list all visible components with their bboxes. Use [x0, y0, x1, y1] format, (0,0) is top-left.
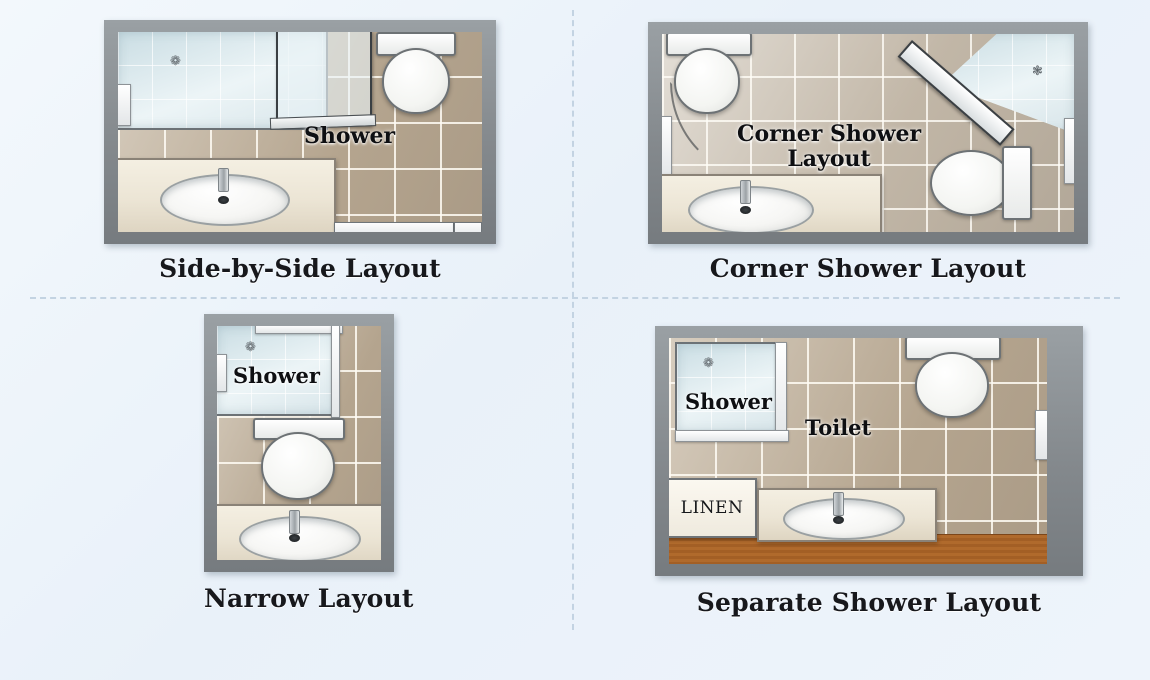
toilet-right [930, 146, 1054, 218]
layout-card-corner-shower[interactable]: ❃ C [648, 22, 1088, 292]
shower-enclosure: ❁ [675, 342, 783, 434]
door-opening [334, 222, 454, 232]
sink-drain [218, 196, 229, 204]
faucet [218, 168, 229, 192]
room-interior: ❃ C [662, 34, 1074, 232]
room-interior: ❁ LINEN [669, 338, 1047, 564]
window [1064, 118, 1074, 184]
caption-separate-shower: Separate Shower Layout [655, 588, 1083, 617]
caption-corner-shower: Corner Shower Layout [648, 254, 1088, 283]
vanity-counter [757, 488, 937, 542]
shower-door-edge [331, 326, 340, 418]
sink-drain [833, 516, 844, 524]
faucet [740, 180, 751, 204]
floorplan-separate-shower: ❁ LINEN [655, 326, 1083, 576]
sink-drain [740, 206, 751, 214]
layout-card-side-by-side[interactable]: ❁ Sho [104, 20, 496, 290]
sink-basin [239, 516, 361, 560]
room-interior: ❁ Shower [217, 326, 381, 560]
layout-card-separate-shower[interactable]: ❁ LINEN [655, 326, 1083, 626]
sink-basin [783, 498, 905, 540]
toilet [368, 32, 460, 118]
faucet [833, 492, 844, 516]
sink-drain [289, 534, 300, 542]
caption-side-by-side: Side-by-Side Layout [104, 254, 496, 283]
door-jamb [454, 222, 482, 232]
shower-label: Shower [304, 124, 395, 149]
linen-cabinet: LINEN [669, 478, 757, 538]
corner-shower-label: Corner Shower Layout [724, 122, 934, 171]
floorplan-board: ❁ Sho [0, 0, 1150, 680]
horizontal-divider [30, 297, 1120, 299]
toilet [905, 338, 1005, 420]
floorplan-corner-shower: ❃ C [648, 22, 1088, 244]
vertical-divider [572, 10, 574, 630]
layout-card-narrow[interactable]: ❁ Shower Narrow Layout [204, 314, 394, 614]
toilet-bowl [261, 432, 335, 500]
showerhead-icon: ❁ [170, 54, 181, 67]
window [1035, 410, 1047, 460]
shower-ledge [217, 354, 227, 392]
vanity-counter [118, 158, 336, 232]
shower-label: Shower [233, 364, 320, 388]
shower-threshold [675, 430, 789, 442]
toilet-bowl [930, 150, 1012, 216]
floorplan-narrow: ❁ Shower [204, 314, 394, 572]
door-opening [662, 116, 672, 180]
floorplan-side-by-side: ❁ Sho [104, 20, 496, 244]
showerhead-icon: ❁ [703, 356, 714, 369]
shower-glass-door [276, 32, 372, 126]
shower-drain-icon: ❃ [1032, 64, 1043, 77]
vanity-counter [217, 504, 381, 560]
toilet-bowl [915, 352, 989, 418]
toilet [251, 418, 343, 500]
sink-basin [688, 186, 814, 232]
caption-narrow: Narrow Layout [204, 584, 394, 613]
room-interior: ❁ Sho [118, 32, 482, 232]
shower-rod [255, 326, 343, 334]
showerhead-icon: ❁ [245, 340, 256, 353]
corner-shower-unit: ❃ [920, 34, 1074, 154]
linen-label: LINEN [681, 498, 744, 518]
toilet-label: Toilet [805, 416, 871, 440]
toilet-bowl [382, 48, 450, 114]
shower-ledge [118, 84, 131, 126]
toilet-tank [1002, 146, 1032, 220]
shower-door-panel [775, 342, 787, 438]
faucet [289, 510, 300, 534]
vanity-counter [662, 174, 882, 232]
shower-label: Shower [685, 390, 772, 414]
